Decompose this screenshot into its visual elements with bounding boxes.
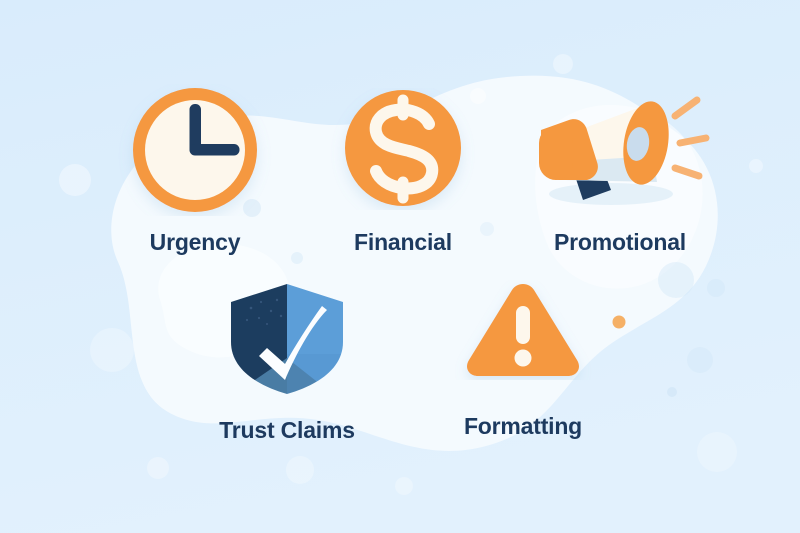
category-label-financial: Financial [354,231,452,254]
warning-triangle-icon [425,280,621,385]
category-label-promotional: Promotional [554,231,686,254]
clock-icon [100,84,290,221]
category-grid: Urgency Financial [0,0,800,533]
category-item-trust-claims[interactable]: Trust Claims [189,280,385,442]
category-label-urgency: Urgency [150,231,241,254]
category-item-financial[interactable]: Financial [308,88,498,254]
megaphone-icon [525,86,715,215]
dollar-coin-icon [308,88,498,215]
category-item-formatting[interactable]: Formatting [425,280,621,438]
category-item-promotional[interactable]: Promotional [525,86,715,254]
category-label-trust-claims: Trust Claims [219,419,355,442]
shield-check-icon [189,280,385,401]
graphic-canvas: Urgency Financial [0,0,800,533]
category-label-formatting: Formatting [464,415,582,438]
category-item-urgency[interactable]: Urgency [100,84,290,254]
